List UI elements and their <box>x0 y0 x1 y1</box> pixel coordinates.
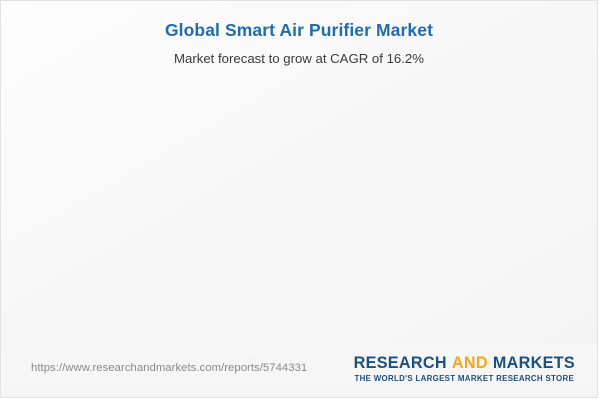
infographic-card: Global Smart Air Purifier Market Market … <box>0 0 598 398</box>
logo-word-research: RESEARCH <box>354 354 447 372</box>
source-url-link[interactable]: https://www.researchandmarkets.com/repor… <box>31 362 307 374</box>
logo-wordmark: RESEARCHANDMARKETS <box>354 354 575 373</box>
logo-word-markets: MARKETS <box>493 354 575 372</box>
logo-tagline: THE WORLD'S LARGEST MARKET RESEARCH STOR… <box>354 374 575 383</box>
chart-footer: https://www.researchandmarkets.com/repor… <box>1 345 597 397</box>
research-and-markets-logo[interactable]: RESEARCHANDMARKETS THE WORLD'S LARGEST M… <box>354 354 575 383</box>
logo-word-and: AND <box>452 354 488 372</box>
chart-plot-area: USD 8.36 billion <box>1 1 598 346</box>
